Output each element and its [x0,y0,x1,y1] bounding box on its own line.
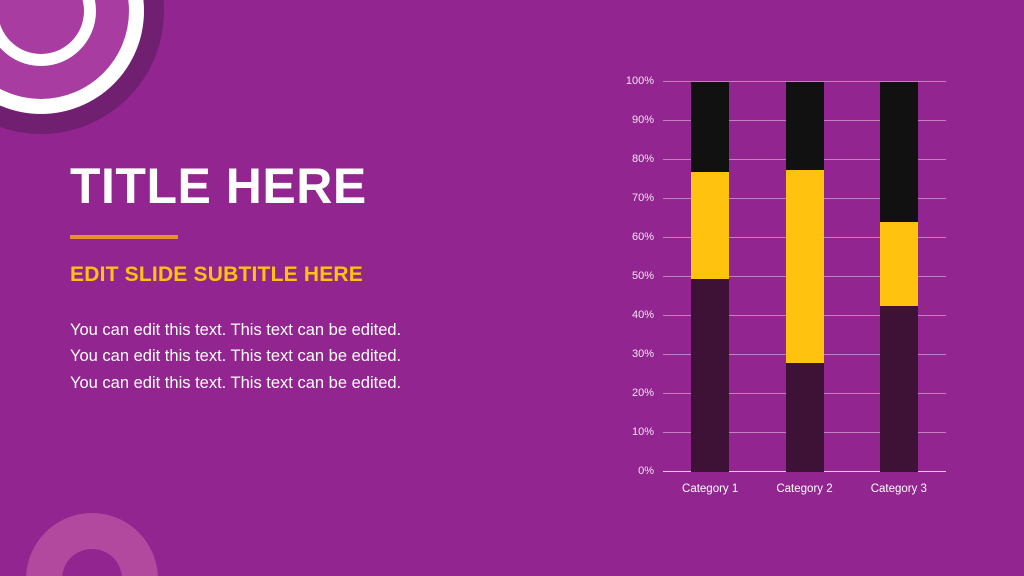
y-axis-tick-label: 60% [632,231,654,243]
x-axis-tick-label: Category 3 [844,483,954,495]
title-divider [70,235,178,239]
y-axis-tick-label: 50% [632,270,654,282]
y-axis-tick-label: 30% [632,348,654,360]
decorative-ring-inner-icon [0,0,84,54]
chart-bar-segment[interactable] [691,279,729,472]
chart-bar-segment[interactable] [691,82,729,172]
decorative-donut-icon [26,513,158,576]
stacked-bar-chart[interactable]: 0%10%20%30%40%50%60%70%80%90%100%Categor… [612,66,972,506]
y-axis-tick-label: 90% [632,114,654,126]
y-axis-tick-label: 80% [632,153,654,165]
y-axis-tick-label: 0% [638,465,654,477]
chart-bar[interactable]: Category 1 [691,82,729,472]
decorative-donut-hole-icon [62,549,122,576]
slide-canvas: TITLE HERE EDIT SLIDE SUBTITLE HERE You … [0,0,1024,576]
chart-bar-segment[interactable] [880,82,918,222]
chart-bar-segment[interactable] [786,82,824,170]
y-axis-tick-label: 70% [632,192,654,204]
chart-bar-segment[interactable] [880,222,918,306]
page-subtitle[interactable]: EDIT SLIDE SUBTITLE HERE [70,263,450,287]
page-title[interactable]: TITLE HERE [70,160,450,213]
y-axis-tick-label: 10% [632,426,654,438]
decorative-ring-outer-icon [0,0,164,134]
text-column: TITLE HERE EDIT SLIDE SUBTITLE HERE You … [70,160,450,397]
decorative-ring-white-icon [0,0,144,114]
chart-bar-segment[interactable] [786,363,824,472]
chart-bar-segment[interactable] [691,172,729,279]
y-axis-tick-label: 20% [632,387,654,399]
chart-bar-segment[interactable] [786,170,824,363]
decorative-ring-white-inner-icon [0,0,96,66]
chart-bar-segment[interactable] [880,306,918,472]
body-paragraph[interactable]: You can edit this text. This text can be… [70,317,432,397]
decorative-ring-mid-icon [0,0,129,99]
chart-bar[interactable]: Category 2 [786,82,824,472]
chart-plot-area: 0%10%20%30%40%50%60%70%80%90%100%Categor… [663,82,946,472]
y-axis-tick-label: 100% [626,75,654,87]
chart-bar[interactable]: Category 3 [880,82,918,472]
y-axis-tick-label: 40% [632,309,654,321]
